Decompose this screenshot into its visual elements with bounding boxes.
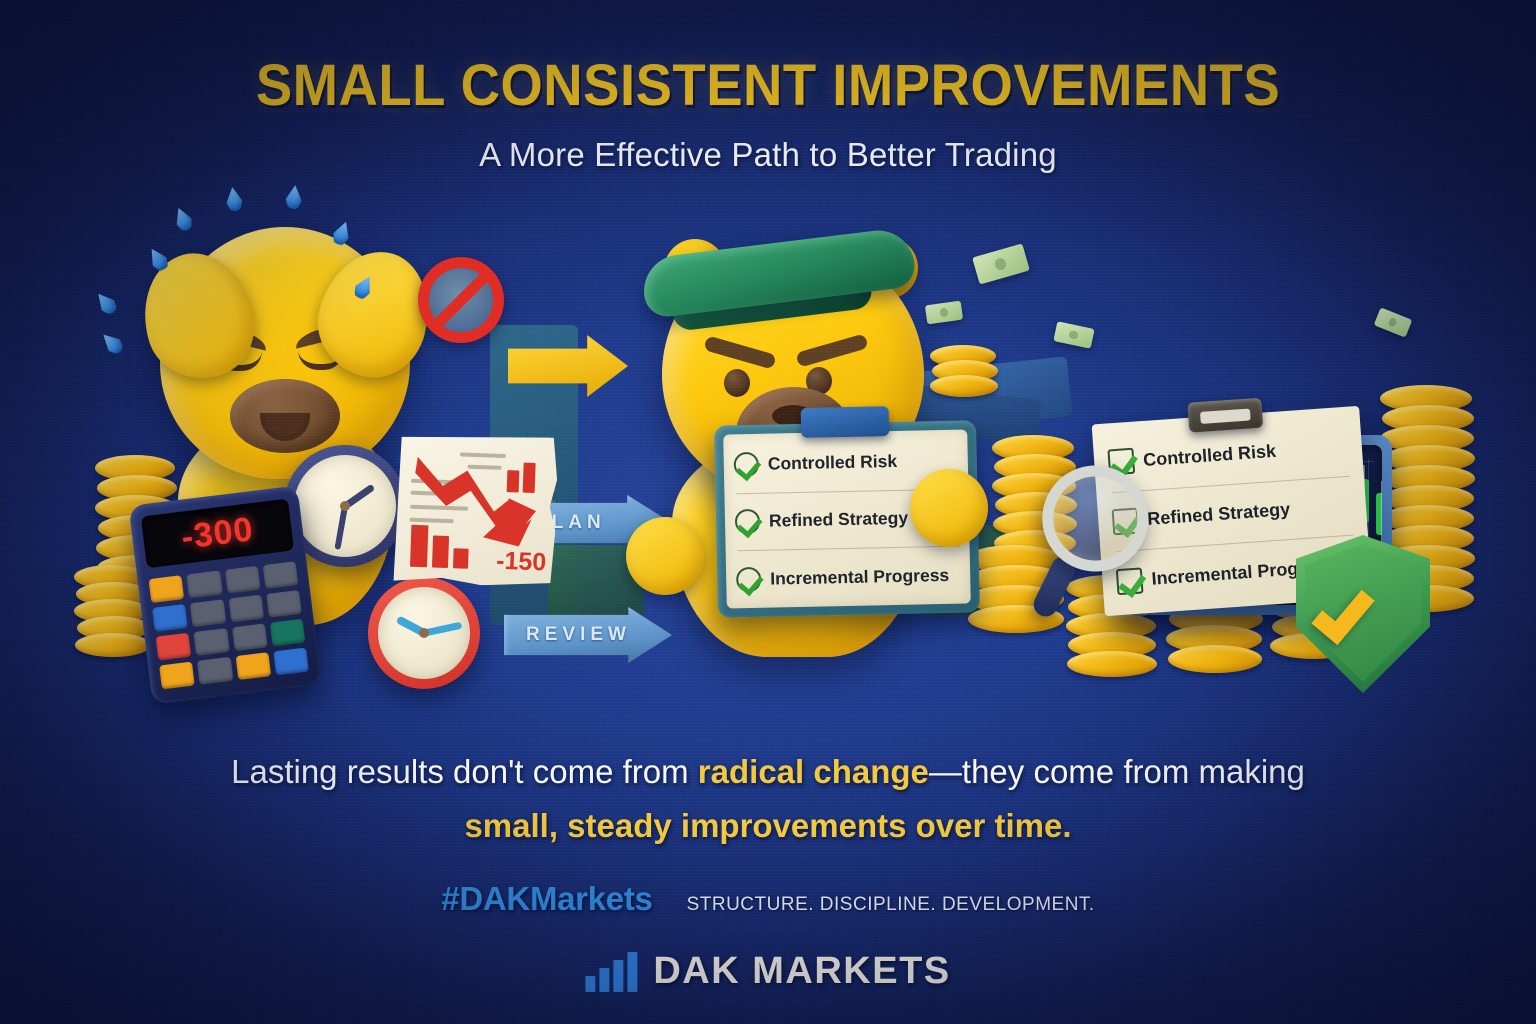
downward-trend-arrow	[407, 443, 543, 556]
banknote	[1053, 321, 1094, 348]
tagline-highlight1: radical change	[698, 753, 929, 790]
sheet-clip	[1187, 398, 1263, 433]
checklist-item[interactable]: Controlled Risk	[1107, 433, 1350, 476]
banknote	[972, 243, 1030, 284]
checklist-item[interactable]: Incremental Progress	[736, 563, 962, 593]
brand-tagline: STRUCTURE. DISCIPLINE. DEVELOPMENT.	[687, 894, 1095, 916]
checklist-item-label: Refined Strategy	[769, 508, 908, 532]
paw-right	[910, 469, 988, 547]
eye-left	[724, 369, 750, 397]
page-title: SMALL CONSISTENT IMPROVEMENTS	[46, 52, 1490, 119]
poster-canvas: SMALL CONSISTENT IMPROVEMENTS A More Eff…	[0, 0, 1536, 1024]
checklist-item[interactable]: Controlled Risk	[734, 448, 960, 478]
tagline-part2: —they come from making	[929, 753, 1305, 790]
page-subtitle: A More Effective Path to Better Trading	[0, 136, 1536, 174]
wall-clock-red	[368, 577, 480, 689]
loss-value-label: -150	[496, 547, 547, 578]
calculator-keypad	[149, 561, 309, 689]
tagline-highlight2: small, steady improvements over time.	[464, 807, 1071, 844]
paw-left	[626, 517, 704, 595]
clock-pin	[419, 628, 429, 638]
eyebrow-right	[795, 333, 868, 367]
calculator-display-value: -300	[179, 510, 255, 557]
prohibition-icon	[418, 257, 504, 343]
banknote	[1374, 307, 1413, 337]
checklist-item-label: Controlled Risk	[768, 451, 898, 475]
clock-pin	[340, 501, 350, 511]
tagline-part1: Lasting results don't come from	[231, 753, 698, 790]
clipboard-clip	[801, 406, 890, 438]
check-circle-icon	[734, 452, 760, 478]
mouth-frown	[260, 413, 310, 441]
sweat-drop	[92, 289, 120, 318]
bar-chart-icon	[585, 952, 637, 992]
hashtag[interactable]: #DAKMarkets	[441, 880, 652, 918]
brand-name: DAK MARKETS	[653, 950, 950, 993]
check-circle-icon	[736, 567, 762, 593]
check-circle-icon	[735, 509, 761, 535]
checklist-item-label: Controlled Risk	[1143, 441, 1277, 471]
calculator-display: -300	[141, 499, 294, 569]
divider	[738, 546, 960, 552]
checklist-item-label: Incremental Progress	[770, 565, 949, 590]
illustration-scene: PLAN REVIEW	[0, 195, 1536, 705]
tagline: Lasting results don't come from radical …	[208, 745, 1328, 853]
loss-chart-paper: -150	[393, 432, 558, 587]
flow-arrow-review-label: REVIEW	[504, 624, 631, 646]
calculator: -300	[128, 485, 321, 704]
bear-snout	[230, 379, 340, 453]
brand-logo: DAK MARKETS	[585, 950, 950, 993]
shield-check-icon	[1296, 535, 1430, 693]
footer-hashtag-row: #DAKMarkets STRUCTURE. DISCIPLINE. DEVEL…	[0, 880, 1536, 918]
